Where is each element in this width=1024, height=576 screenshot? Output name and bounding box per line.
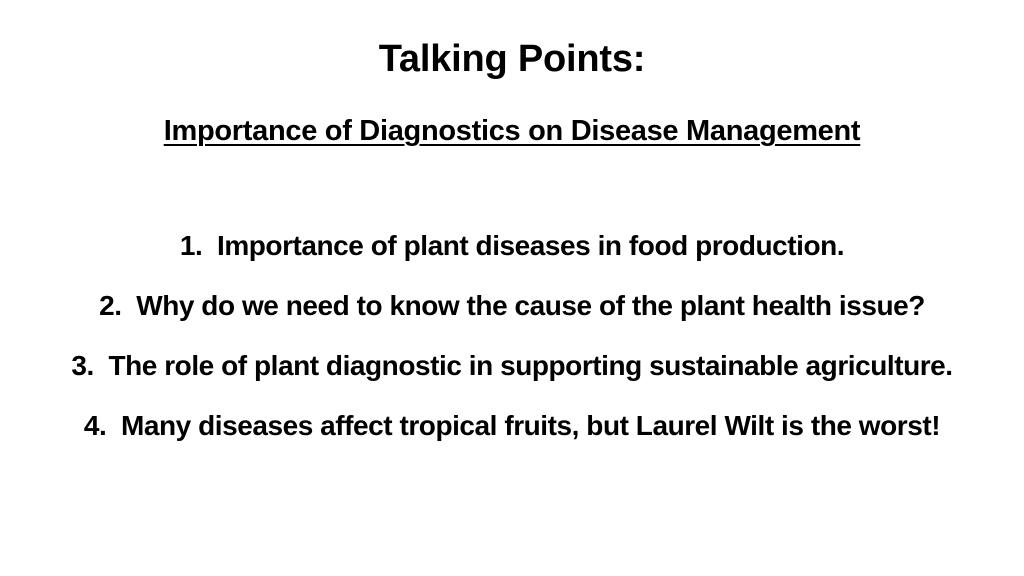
list-item: 3. The role of plant diagnostic in suppo… bbox=[0, 348, 1024, 384]
slide-subtitle: Importance of Diagnostics on Disease Man… bbox=[0, 112, 1024, 150]
page-title: Talking Points: bbox=[0, 36, 1024, 82]
list-item: 1. Importance of plant diseases in food … bbox=[0, 228, 1024, 264]
slide-subtitle-text: Importance of Diagnostics on Disease Man… bbox=[164, 115, 861, 147]
list-item: 4. Many diseases affect tropical fruits,… bbox=[0, 408, 1024, 444]
list-item: 2. Why do we need to know the cause of t… bbox=[0, 288, 1024, 324]
slide-canvas: Talking Points: Importance of Diagnostic… bbox=[0, 0, 1024, 576]
talking-points-list: 1. Importance of plant diseases in food … bbox=[0, 228, 1024, 444]
